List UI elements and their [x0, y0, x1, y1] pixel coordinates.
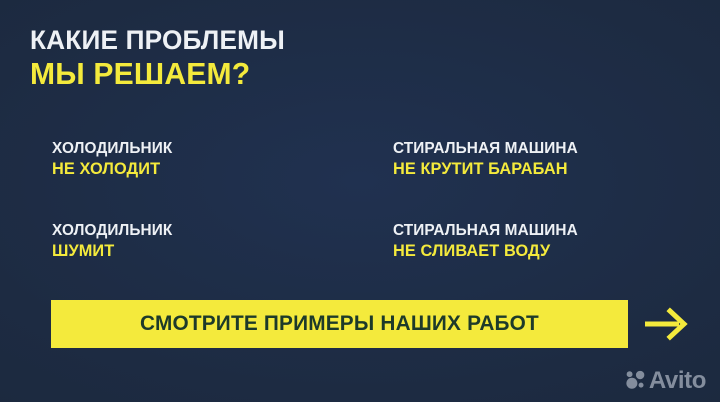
ad-banner: КАКИЕ ПРОБЛЕМЫ МЫ РЕШАЕМ? ХОЛОДИЛЬНИК НЕ…: [0, 0, 720, 402]
problem-fault: НЕ СЛИВАЕТ ВОДУ: [393, 242, 657, 261]
problem-fault: НЕ ХОЛОДИТ: [52, 160, 379, 179]
problem-device: СТИРАЛЬНАЯ МАШИНА: [393, 140, 657, 158]
arrow-right-icon[interactable]: [645, 307, 689, 341]
problem-device: ХОЛОДИЛЬНИК: [52, 222, 379, 240]
headline-line-1: КАКИЕ ПРОБЛЕМЫ: [30, 26, 285, 55]
problem-list: ХОЛОДИЛЬНИК НЕ ХОЛОДИТ СТИРАЛЬНАЯ МАШИНА…: [52, 140, 668, 261]
avito-wordmark: Avito: [649, 369, 706, 393]
headline: КАКИЕ ПРОБЛЕМЫ МЫ РЕШАЕМ?: [30, 26, 293, 90]
problem-item: СТИРАЛЬНАЯ МАШИНА НЕ КРУТИТ БАРАБАН: [393, 140, 668, 178]
cta-row: СМОТРИТЕ ПРИМЕРЫ НАШИХ РАБОТ: [51, 300, 689, 348]
problem-device: СТИРАЛЬНАЯ МАШИНА: [393, 222, 657, 240]
avito-watermark: Avito: [625, 369, 706, 393]
problem-device: ХОЛОДИЛЬНИК: [52, 140, 379, 158]
problem-item: СТИРАЛЬНАЯ МАШИНА НЕ СЛИВАЕТ ВОДУ: [393, 222, 668, 260]
view-works-button[interactable]: СМОТРИТЕ ПРИМЕРЫ НАШИХ РАБОТ: [51, 300, 628, 348]
problem-fault: ШУМИТ: [52, 242, 379, 261]
avito-dots-icon: [625, 370, 647, 392]
problem-fault: НЕ КРУТИТ БАРАБАН: [393, 160, 657, 179]
cta-button-label: СМОТРИТЕ ПРИМЕРЫ НАШИХ РАБОТ: [140, 312, 539, 336]
headline-line-2: МЫ РЕШАЕМ?: [30, 58, 285, 91]
problem-item: ХОЛОДИЛЬНИК ШУМИТ: [52, 222, 393, 260]
problem-item: ХОЛОДИЛЬНИК НЕ ХОЛОДИТ: [52, 140, 393, 178]
